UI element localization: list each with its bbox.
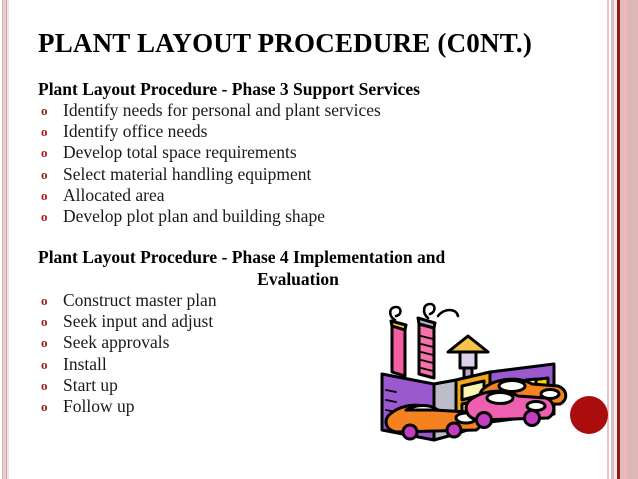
list-item: o Follow up [38, 396, 217, 417]
bullet-marker-icon: o [41, 290, 48, 311]
list-item-label: Construct master plan [63, 290, 217, 310]
list-item-label: Follow up [63, 396, 134, 416]
list-item: o Start up [38, 375, 217, 396]
list-item: o Seek approvals [38, 332, 217, 353]
list-item-label: Seek approvals [63, 332, 169, 352]
section-heading-phase-4: Plant Layout Procedure - Phase 4 Impleme… [38, 246, 558, 290]
list-item: o Seek input and adjust [38, 311, 217, 332]
list-item-label: Select material handling equipment [63, 164, 311, 184]
slide-title: PLANT LAYOUT PROCEDURE (C0NT.) [38, 28, 598, 59]
list-item: o Develop plot plan and building shape [38, 206, 381, 227]
list-item-label: Start up [63, 375, 118, 395]
bullet-marker-icon: o [41, 332, 48, 353]
list-item: o Construct master plan [38, 290, 217, 311]
section-heading-phase-4-line1: Plant Layout Procedure - Phase 4 Impleme… [38, 247, 445, 267]
bullet-marker-icon: o [41, 311, 48, 332]
bullet-marker-icon: o [41, 164, 48, 185]
bullet-marker-icon: o [41, 142, 48, 163]
bullet-marker-icon: o [41, 375, 48, 396]
bullet-marker-icon: o [41, 206, 48, 227]
section-heading-phase-3: Plant Layout Procedure - Phase 3 Support… [38, 78, 578, 100]
list-item: o Allocated area [38, 185, 381, 206]
right-border-stripe-8 [627, 0, 638, 479]
list-item: o Identify office needs [38, 121, 381, 142]
list-item-label: Identify needs for personal and plant se… [63, 100, 381, 120]
list-item: o Select material handling equipment [38, 164, 381, 185]
bullet-marker-icon: o [41, 121, 48, 142]
bullet-list-phase-3: o Identify needs for personal and plant … [38, 100, 381, 227]
list-item-label: Install [63, 354, 107, 374]
list-item-label: Seek input and adjust [63, 311, 213, 331]
bullet-marker-icon: o [41, 396, 48, 417]
list-item: o Identify needs for personal and plant … [38, 100, 381, 121]
factory-and-cars-clipart-icon [372, 294, 570, 444]
list-item-label: Develop total space requirements [63, 142, 297, 162]
list-item: o Install [38, 354, 217, 375]
list-item: o Develop total space requirements [38, 142, 381, 163]
left-border-stripe-4 [7, 0, 9, 479]
list-item-label: Identify office needs [63, 121, 207, 141]
bullet-marker-icon: o [41, 354, 48, 375]
list-item-label: Develop plot plan and building shape [63, 206, 325, 226]
bullet-marker-icon: o [41, 185, 48, 206]
bullet-list-phase-4: o Construct master plan o Seek input and… [38, 290, 217, 417]
slide-canvas: PLANT LAYOUT PROCEDURE (C0NT.) Plant Lay… [0, 0, 638, 479]
list-item-label: Allocated area [63, 185, 165, 205]
red-circle-decoration [570, 396, 608, 434]
bullet-marker-icon: o [41, 100, 48, 121]
section-heading-phase-4-line2: Evaluation [38, 268, 558, 290]
